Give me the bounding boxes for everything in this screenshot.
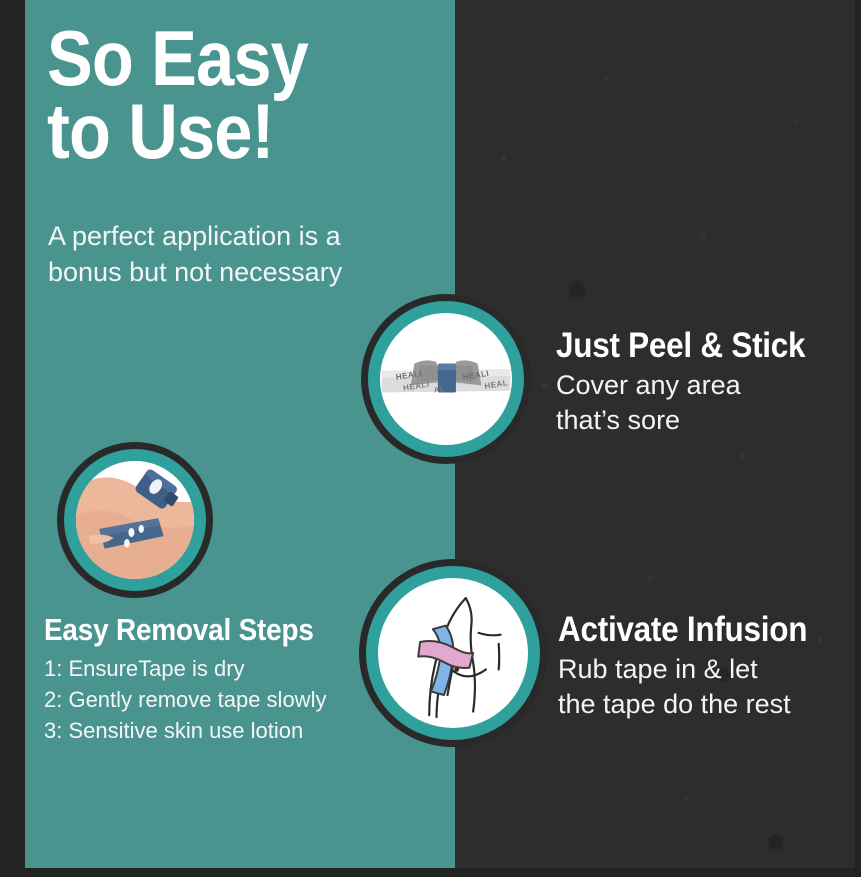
- page-title-line-2: to Use!: [47, 95, 390, 168]
- peel-body-line-1: Cover any area: [556, 370, 741, 400]
- list-item: 1: EnsureTape is dry: [44, 653, 374, 684]
- left-frame-edge: [0, 0, 25, 877]
- activate-infusion-image-circle: [359, 559, 547, 747]
- circle-white-inner: [76, 461, 194, 579]
- infusion-body-line-1: Rub tape in & let: [558, 654, 758, 684]
- dark-textured-background-panel: [455, 0, 861, 877]
- list-item: 3: Sensitive skin use lotion: [44, 715, 374, 746]
- easy-removal-step-list: 1: EnsureTape is dry 2: Gently remove ta…: [44, 653, 374, 747]
- peel-and-stick-body: Cover any area that’s sore: [556, 368, 861, 439]
- infusion-body-line-2: the tape do the rest: [558, 689, 791, 719]
- peel-and-stick-heading: Just Peel & Stick: [556, 328, 853, 364]
- bottom-frame-edge: [0, 868, 861, 877]
- circle-white-inner: [378, 578, 528, 728]
- section-activate-infusion: Activate Infusion Rub tape in & let the …: [558, 612, 861, 722]
- section-easy-removal-steps: Easy Removal Steps 1: EnsureTape is dry …: [44, 614, 374, 747]
- circle-teal-ring: [366, 566, 540, 740]
- circle-teal-ring: [64, 449, 206, 591]
- page-title-line-1: So Easy: [47, 22, 390, 95]
- right-frame-edge: [855, 0, 861, 877]
- svg-text:AL: AL: [433, 384, 445, 395]
- list-item: 2: Gently remove tape slowly: [44, 684, 374, 715]
- taped-shoulder-icon: [378, 578, 528, 728]
- circle-white-inner: HEALI HEALI HEALI HEAL AL: [380, 313, 512, 445]
- activate-infusion-heading: Activate Infusion: [558, 612, 833, 648]
- section-peel-and-stick: Just Peel & Stick Cover any area that’s …: [556, 328, 861, 438]
- peel-and-stick-image-circle: HEALI HEALI HEALI HEAL AL: [361, 294, 531, 464]
- easy-removal-heading: Easy Removal Steps: [44, 614, 341, 645]
- page-subtitle: A perfect application is a bonus but not…: [48, 219, 418, 290]
- infographic-poster: So Easy to Use! A perfect application is…: [0, 0, 861, 877]
- lotion-on-tape-icon: [76, 461, 194, 579]
- easy-removal-image-circle: [57, 442, 213, 598]
- circle-teal-ring: HEALI HEALI HEALI HEAL AL: [368, 301, 524, 457]
- activate-infusion-body: Rub tape in & let the tape do the rest: [558, 652, 861, 723]
- page-title: So Easy to Use!: [47, 22, 437, 167]
- peel-and-stick-tape-icon: HEALI HEALI HEALI HEAL AL: [380, 313, 512, 445]
- peel-body-line-2: that’s sore: [556, 405, 680, 435]
